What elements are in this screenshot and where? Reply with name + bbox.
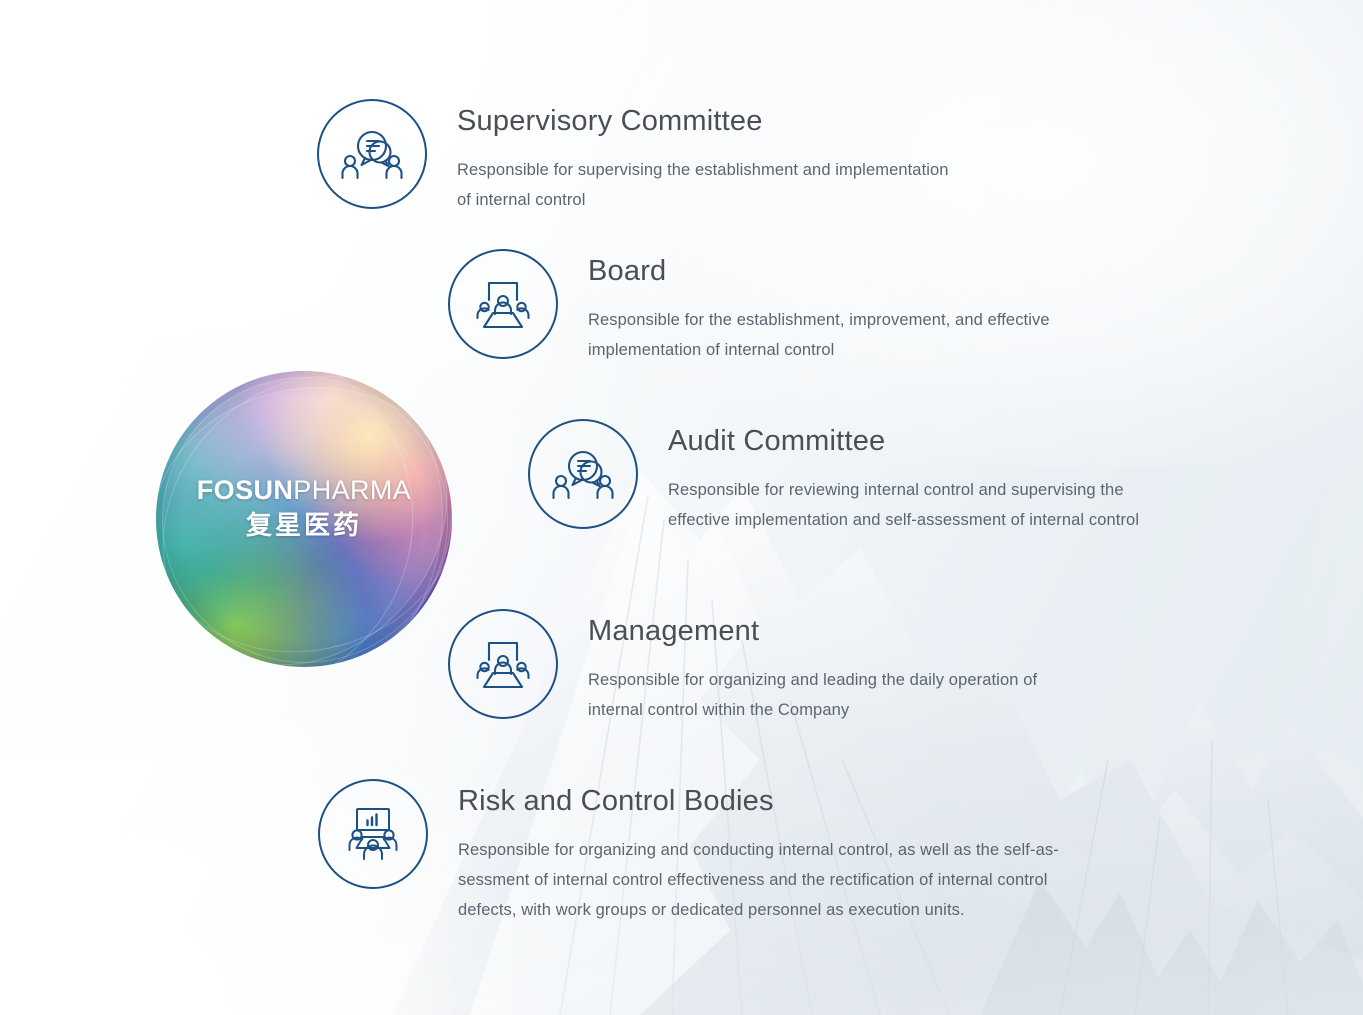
committee-discussion-icon bbox=[317, 99, 427, 209]
description-line: defects, with work groups or dedicated p… bbox=[458, 895, 1059, 925]
list-item-title: Audit Committee bbox=[668, 427, 1139, 456]
description-line: of internal control bbox=[457, 185, 949, 215]
description-line: Responsible for the establishment, impro… bbox=[588, 305, 1050, 335]
description-line: Responsible for reviewing internal contr… bbox=[668, 475, 1139, 505]
list-item-description: Responsible for organizing and leading t… bbox=[588, 665, 1037, 725]
list-item: Board Responsible for the establishment,… bbox=[448, 249, 1050, 365]
list-item-title: Supervisory Committee bbox=[457, 107, 949, 136]
list-item: Audit Committee Responsible for reviewin… bbox=[528, 419, 1139, 535]
list-item: Management Responsible for organizing an… bbox=[448, 609, 1037, 725]
list-item-title: Management bbox=[588, 617, 1037, 646]
list-item-text: Management Responsible for organizing an… bbox=[588, 609, 1037, 725]
logo-wordmark: FOSUNPHARMA 复星医药 bbox=[156, 477, 452, 539]
list-item: Risk and Control Bodies Responsible for … bbox=[318, 779, 1059, 925]
list-item-title: Board bbox=[588, 257, 1050, 286]
list-item-title: Risk and Control Bodies bbox=[458, 787, 1059, 816]
logo-fosun-text: FOSUN bbox=[197, 475, 294, 505]
list-item: Supervisory Committee Responsible for su… bbox=[317, 99, 949, 215]
logo-pharma-text: PHARMA bbox=[293, 475, 411, 505]
description-line: Responsible for organizing and leading t… bbox=[588, 665, 1037, 695]
list-item-description: Responsible for supervising the establis… bbox=[457, 155, 949, 215]
committee-discussion-icon bbox=[528, 419, 638, 529]
list-item-text: Risk and Control Bodies Responsible for … bbox=[458, 779, 1059, 925]
logo-chinese-text: 复星医药 bbox=[156, 513, 452, 539]
description-line: Responsible for organizing and conductin… bbox=[458, 835, 1059, 865]
list-item-description: Responsible for organizing and conductin… bbox=[458, 835, 1059, 925]
list-item-description: Responsible for the establishment, impro… bbox=[588, 305, 1050, 365]
list-item-description: Responsible for reviewing internal contr… bbox=[668, 475, 1139, 535]
description-line: implementation of internal control bbox=[588, 335, 1050, 365]
boardroom-meeting-icon bbox=[448, 249, 558, 359]
description-line: sessment of internal control effectivene… bbox=[458, 865, 1059, 895]
presentation-chart-team-icon bbox=[318, 779, 428, 889]
list-item-text: Board Responsible for the establishment,… bbox=[588, 249, 1050, 365]
list-item-text: Audit Committee Responsible for reviewin… bbox=[668, 419, 1139, 535]
description-line: internal control within the Company bbox=[588, 695, 1037, 725]
list-item-text: Supervisory Committee Responsible for su… bbox=[457, 99, 949, 215]
description-line: Responsible for supervising the establis… bbox=[457, 155, 949, 185]
description-line: effective implementation and self-assess… bbox=[668, 505, 1139, 535]
fosun-pharma-logo: FOSUNPHARMA 复星医药 bbox=[156, 371, 452, 667]
boardroom-meeting-icon bbox=[448, 609, 558, 719]
